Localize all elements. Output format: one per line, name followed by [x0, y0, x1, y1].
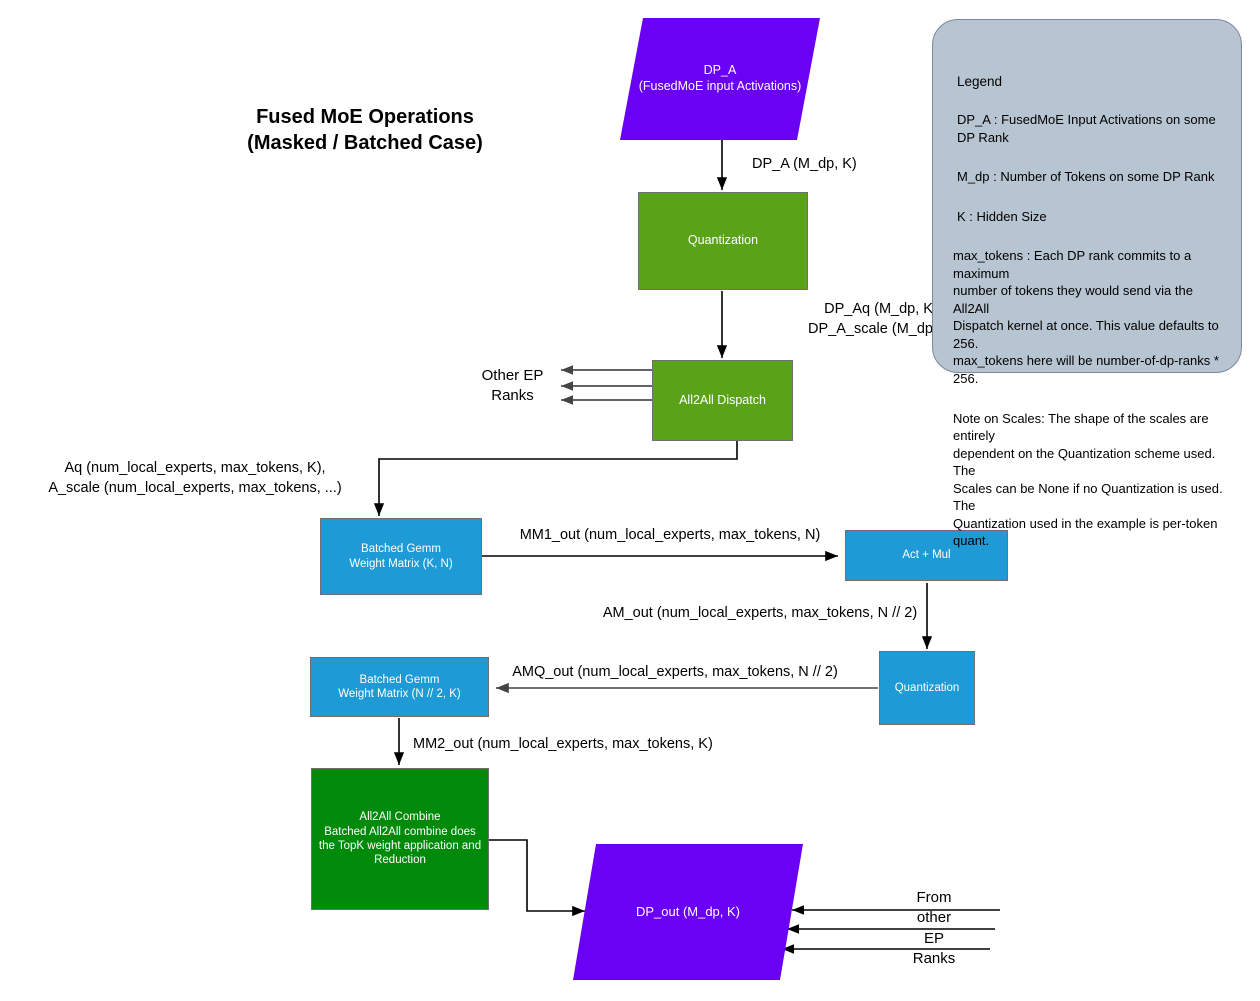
- node-dp-a-label: DP_A (FusedMoE input Activations): [635, 63, 806, 94]
- node-dp-out-label: DP_out (M_dp, K): [632, 904, 744, 920]
- legend-entry-dp-a: DP_A : FusedMoE Input Activations on som…: [957, 111, 1225, 146]
- edge-label-quant2-to-gemm2: AMQ_out (num_local_experts, max_tokens, …: [480, 663, 870, 683]
- label-other-ep-ranks: Other EP Ranks: [465, 366, 560, 407]
- edge-label-dispatch-to-gemm1: Aq (num_local_experts, max_tokens, K), A…: [30, 459, 360, 498]
- node-quantization-2[interactable]: Quantization: [879, 651, 975, 725]
- node-all2all-combine-label: All2All Combine Batched All2All combine …: [315, 810, 485, 868]
- label-from-other-ep-ranks: From other EP Ranks: [895, 888, 973, 969]
- diagram-canvas: Fused MoE Operations (Masked / Batched C…: [0, 0, 1260, 1001]
- legend-entry-m-dp: M_dp : Number of Tokens on some DP Rank: [957, 168, 1225, 186]
- legend-panel: Legend DP_A : FusedMoE Input Activations…: [932, 19, 1242, 373]
- node-quantization-1[interactable]: Quantization: [638, 192, 808, 290]
- node-batched-gemm-2-label: Batched Gemm Weight Matrix (N // 2, K): [334, 673, 464, 702]
- legend-note-max-tokens: max_tokens : Each DP rank commits to a m…: [953, 247, 1225, 387]
- node-dp-a[interactable]: DP_A (FusedMoE input Activations): [620, 18, 820, 140]
- edge-label-gemm2-to-combine: MM2_out (num_local_experts, max_tokens, …: [413, 735, 753, 755]
- node-quantization-2-label: Quantization: [891, 681, 964, 695]
- node-all2all-dispatch-label: All2All Dispatch: [675, 393, 770, 409]
- node-batched-gemm-1-label: Batched Gemm Weight Matrix (K, N): [345, 542, 456, 571]
- node-all2all-combine[interactable]: All2All Combine Batched All2All combine …: [311, 768, 489, 910]
- edge-label-actmul-to-quant2: AM_out (num_local_experts, max_tokens, N…: [585, 604, 935, 624]
- legend-heading: Legend: [957, 74, 1225, 89]
- node-dp-out[interactable]: DP_out (M_dp, K): [573, 844, 803, 980]
- edge-label-gemm1-to-actmul: MM1_out (num_local_experts, max_tokens, …: [500, 526, 840, 546]
- node-quantization-1-label: Quantization: [684, 233, 762, 249]
- node-batched-gemm-1[interactable]: Batched Gemm Weight Matrix (K, N): [320, 518, 482, 595]
- node-act-mul-label: Act + Mul: [898, 548, 954, 562]
- page-title: Fused MoE Operations (Masked / Batched C…: [225, 104, 505, 156]
- legend-entry-k: K : Hidden Size: [957, 208, 1225, 226]
- legend-note-scales: Note on Scales: The shape of the scales …: [953, 410, 1225, 550]
- node-all2all-dispatch[interactable]: All2All Dispatch: [652, 360, 793, 441]
- node-batched-gemm-2[interactable]: Batched Gemm Weight Matrix (N // 2, K): [310, 657, 489, 717]
